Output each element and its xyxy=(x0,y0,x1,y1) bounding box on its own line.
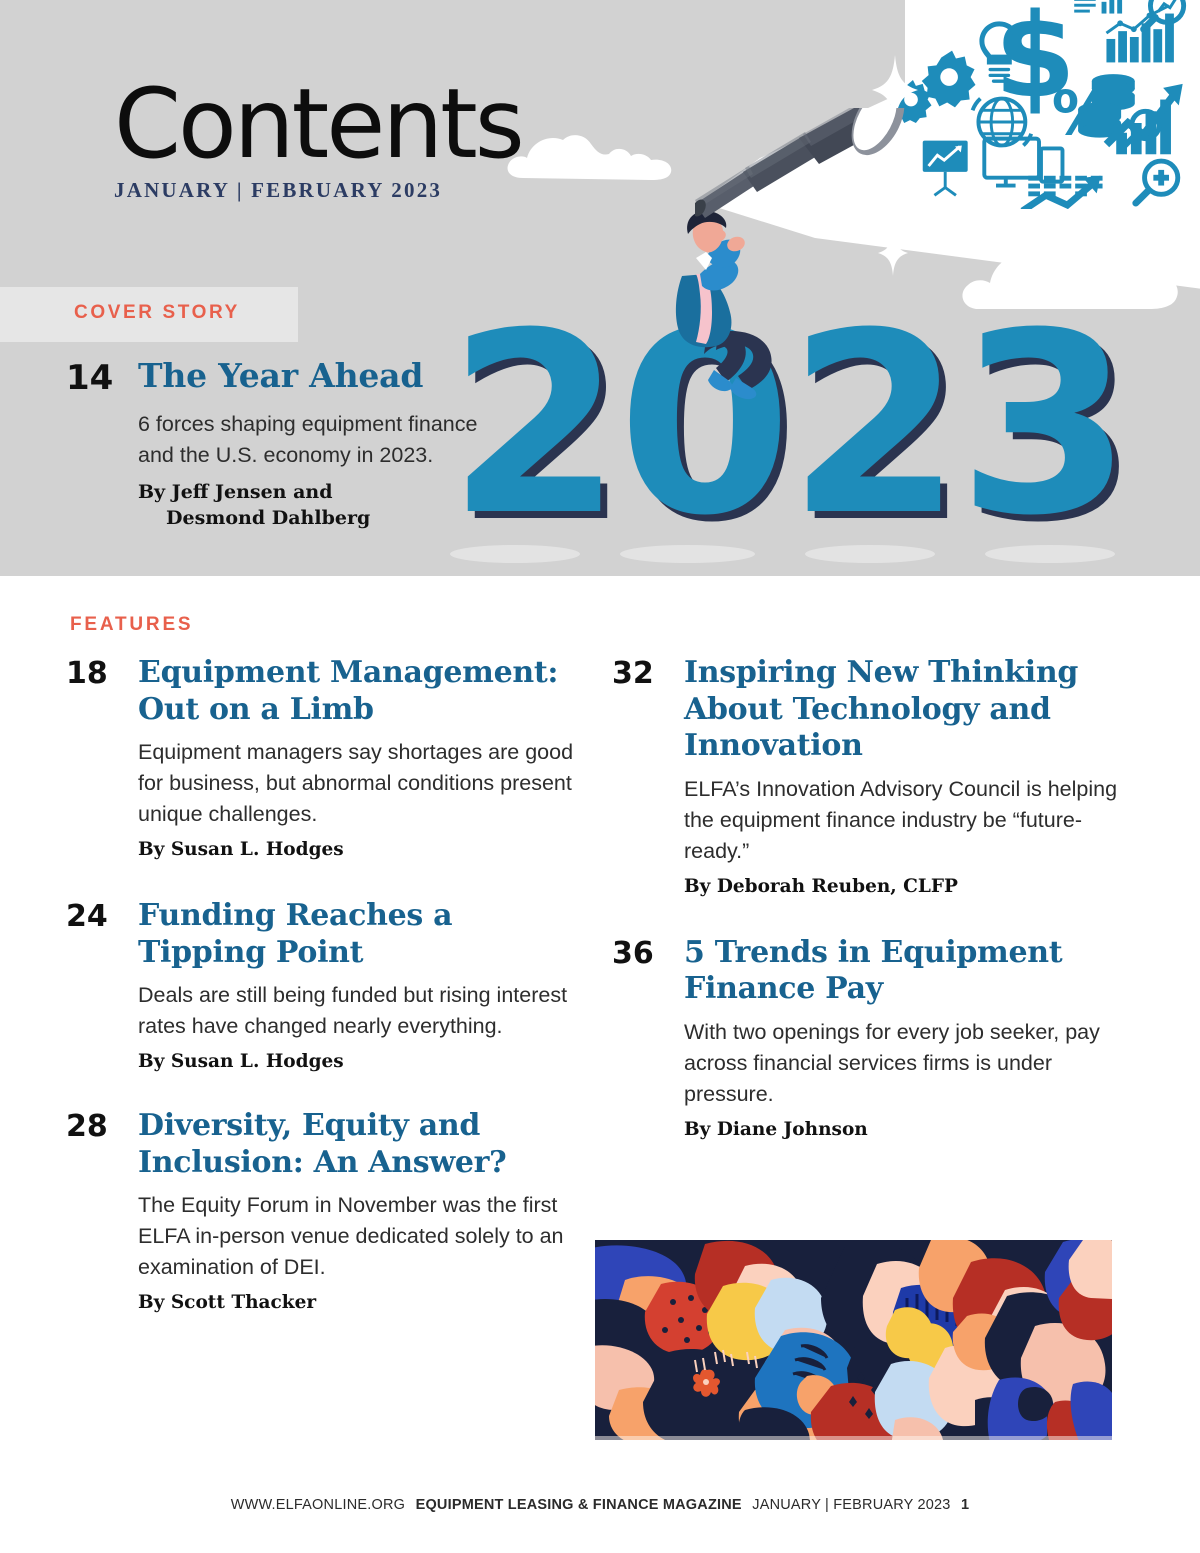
footer-page-number: 1 xyxy=(961,1497,969,1513)
feature-entry-24[interactable]: 24 Funding Reaches a Tipping Point Deals… xyxy=(66,898,578,1072)
cover-story-entry[interactable]: 14 The Year Ahead 6 forces shaping equip… xyxy=(66,358,516,532)
feature-entry-32[interactable]: 32 Inspiring New Thinking About Technolo… xyxy=(612,655,1118,897)
cover-story-byline-line1: By Jeff Jensen and xyxy=(138,481,333,503)
cover-story-label: COVER STORY xyxy=(74,302,240,324)
feature-summary: The Equity Forum in November was the fir… xyxy=(138,1190,578,1283)
cover-story-summary: 6 forces shaping equipment finance and t… xyxy=(138,409,516,470)
dei-crowd-image xyxy=(595,1240,1112,1440)
page-footer: WWW.ELFAONLINE.ORG EQUIPMENT LEASING & F… xyxy=(0,1497,1200,1513)
feature-summary: Equipment managers say shortages are goo… xyxy=(138,737,578,830)
feature-page-number: 28 xyxy=(66,1108,138,1146)
cloud-left-icon xyxy=(505,130,675,182)
page-title: Contents xyxy=(114,76,522,172)
dei-crowd-illustration xyxy=(595,1240,1112,1440)
year-shadow-3 xyxy=(805,545,935,563)
footer-issue: JANUARY | FEBRUARY 2023 xyxy=(752,1497,950,1513)
features-label: FEATURES xyxy=(70,614,193,636)
feature-title[interactable]: Funding Reaches a Tipping Point xyxy=(138,898,578,971)
feature-page-number: 32 xyxy=(612,655,684,693)
year-shadow-2 xyxy=(620,545,755,563)
cover-story-byline: By Jeff Jensen and Desmond Dahlberg xyxy=(138,480,516,532)
footer-publication: EQUIPMENT LEASING & FINANCE MAGAZINE xyxy=(416,1497,742,1513)
feature-byline: By Susan L. Hodges xyxy=(138,839,578,860)
feature-summary: With two openings for every job seeker, … xyxy=(684,1017,1118,1110)
magazine-contents-page: $ xyxy=(0,0,1200,1553)
feature-page-number: 24 xyxy=(66,898,138,936)
cover-story-byline-line2: Desmond Dahlberg xyxy=(138,506,370,532)
feature-title[interactable]: Equipment Management: Out on a Limb xyxy=(138,655,578,728)
feature-entry-36[interactable]: 36 5 Trends in Equipment Finance Pay Wit… xyxy=(612,935,1118,1140)
header-hero: $ xyxy=(0,0,1200,576)
feature-page-number: 18 xyxy=(66,655,138,693)
feature-byline: By Scott Thacker xyxy=(138,1292,578,1313)
feature-byline: By Diane Johnson xyxy=(684,1119,1118,1140)
feature-summary: ELFA’s Innovation Advisory Council is he… xyxy=(684,774,1118,867)
issue-date: JANUARY | FEBRUARY 2023 xyxy=(114,178,522,203)
cover-story-page-number: 14 xyxy=(66,358,138,398)
feature-title[interactable]: 5 Trends in Equipment Finance Pay xyxy=(684,935,1118,1008)
year-shadow-1 xyxy=(450,545,580,563)
feature-entry-18[interactable]: 18 Equipment Management: Out on a Limb E… xyxy=(66,655,578,860)
feature-summary: Deals are still being funded but rising … xyxy=(138,980,578,1042)
telescope-illustration xyxy=(695,108,935,258)
feature-title[interactable]: Inspiring New Thinking About Technology … xyxy=(684,655,1118,765)
cover-story-title[interactable]: The Year Ahead xyxy=(138,358,423,395)
cover-story-band: COVER STORY xyxy=(0,287,298,342)
footer-website: WWW.ELFAONLINE.ORG xyxy=(231,1497,405,1513)
features-right-column: 32 Inspiring New Thinking About Technolo… xyxy=(612,655,1118,1174)
feature-byline: By Susan L. Hodges xyxy=(138,1051,578,1072)
features-left-column: 18 Equipment Management: Out on a Limb E… xyxy=(66,655,578,1347)
feature-title[interactable]: Diversity, Equity and Inclusion: An Answ… xyxy=(138,1108,578,1181)
feature-entry-28[interactable]: 28 Diversity, Equity and Inclusion: An A… xyxy=(66,1108,578,1313)
year-shadow-4 xyxy=(985,545,1115,563)
title-block: Contents JANUARY | FEBRUARY 2023 xyxy=(114,76,522,203)
feature-byline: By Deborah Reuben, CLFP xyxy=(684,876,1118,897)
feature-page-number: 36 xyxy=(612,935,684,973)
